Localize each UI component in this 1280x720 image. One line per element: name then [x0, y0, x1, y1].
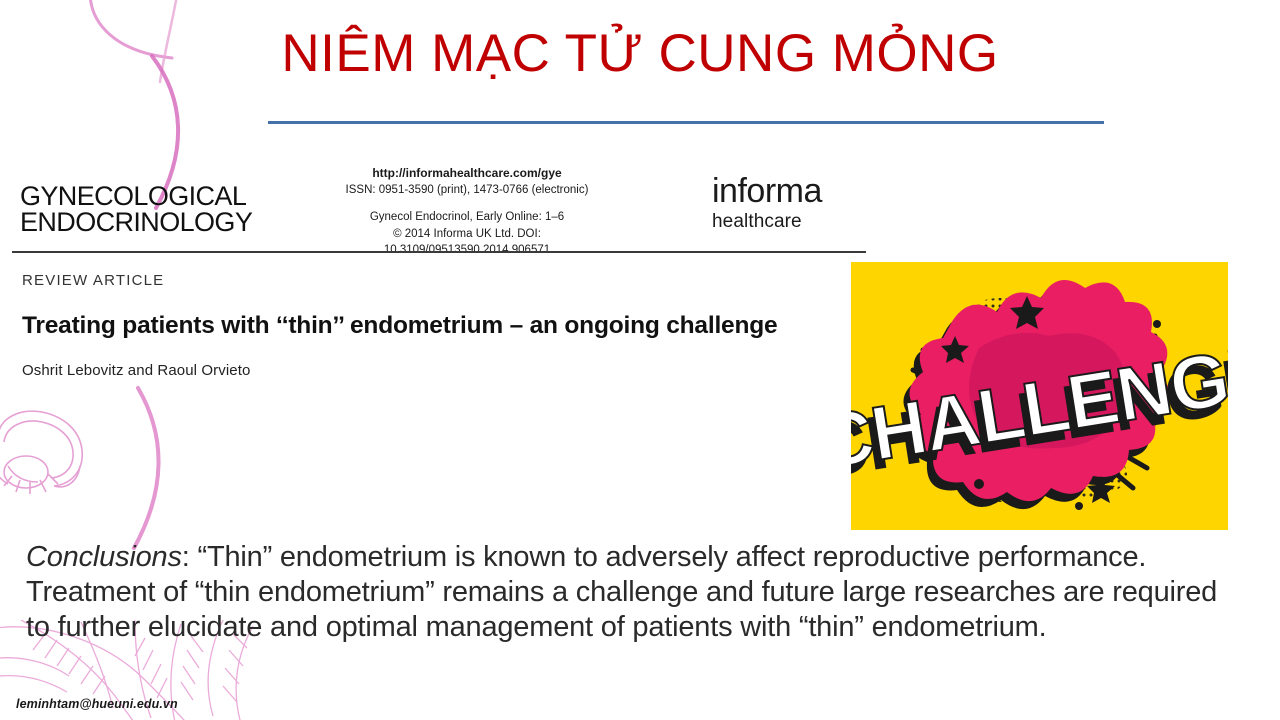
journal-logo: GYNECOLOGICAL ENDOCRINOLOGY [20, 184, 260, 235]
page-title: NIÊM MẠC TỬ CUNG MỎNG [281, 26, 998, 82]
conclusions-line-1-rest: : “Thin” endometrium is known to adverse… [182, 541, 1146, 573]
conclusions-text: Conclusions: “Thin” endometrium is known… [26, 540, 1246, 644]
article-title: Treating patients with ‘‘thin’’ endometr… [22, 312, 822, 340]
slide-canvas: NIÊM MẠC TỬ CUNG MỎNG GYNECOLOGICAL ENDO… [0, 0, 1280, 720]
conclusions-line-3: to further elucidate and optimal managem… [26, 610, 1246, 645]
journal-logo-line2: ENDOCRINOLOGY [20, 210, 260, 236]
challenge-graphic-icon: CHALLENGE CHALLENGE [851, 262, 1228, 530]
conclusions-line-1: Conclusions: “Thin” endometrium is known… [26, 540, 1246, 575]
journal-url: http://informahealthcare.com/gye [312, 165, 622, 182]
article-authors: Oshrit Lebovitz and Raoul Orvieto [22, 362, 822, 379]
informa-logo: informa healthcare [712, 174, 822, 237]
journal-metadata: http://informahealthcare.com/gye ISSN: 0… [312, 165, 622, 259]
title-divider [268, 121, 1104, 124]
article-block: REVIEW ARTICLE Treating patients with ‘‘… [22, 272, 822, 379]
journal-issn: ISSN: 0951-3590 (print), 1473-0766 (elec… [312, 182, 622, 199]
journal-header: GYNECOLOGICAL ENDOCRINOLOGY http://infor… [12, 160, 868, 255]
conclusions-line-2: Treatment of “thin endometrium” remains … [26, 575, 1246, 610]
conclusions-label: Conclusions [26, 541, 182, 573]
informa-subtitle: healthcare [712, 208, 822, 237]
journal-citation: Gynecol Endocrinol, Early Online: 1–6 [312, 209, 622, 226]
journal-copyright: © 2014 Informa UK Ltd. DOI: 10.3109/0951… [312, 226, 622, 259]
journal-divider [12, 251, 866, 253]
footer-email: leminhtam@hueuni.edu.vn [16, 697, 178, 711]
article-kicker: REVIEW ARTICLE [22, 272, 822, 289]
challenge-image: CHALLENGE CHALLENGE [851, 262, 1228, 530]
slide-title-block: NIÊM MẠC TỬ CUNG MỎNG [0, 26, 1280, 82]
meta-spacer [312, 199, 622, 209]
informa-name: informa [712, 174, 822, 208]
